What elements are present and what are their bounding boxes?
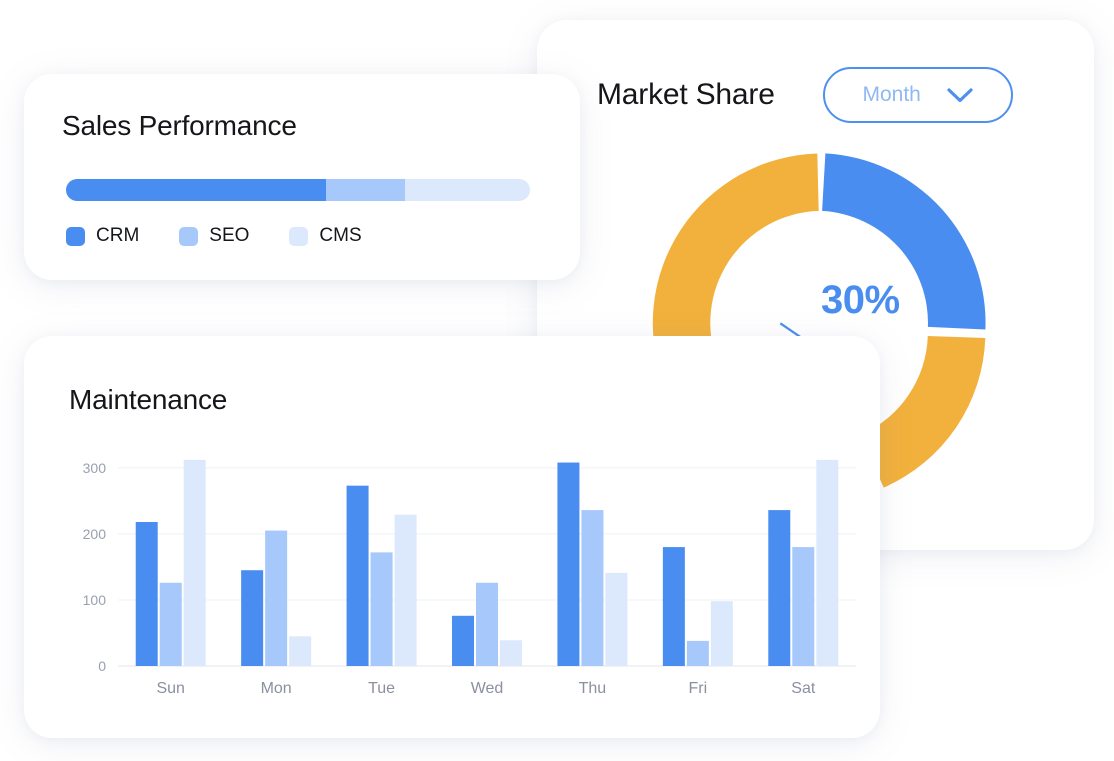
donut-center-value: 30% — [821, 278, 900, 323]
bar-wed-cms[interactable] — [500, 640, 522, 666]
legend-swatch-cms — [289, 227, 308, 246]
sales-legend: CRM SEO CMS — [66, 225, 362, 247]
bar-fri-crm[interactable] — [663, 547, 685, 666]
bar-mon-seo[interactable] — [265, 531, 287, 666]
sales-performance-title: Sales Performance — [62, 110, 297, 142]
bar-thu-seo[interactable] — [581, 510, 603, 666]
maintenance-bar-chart: 0100200300SunMonTueWedThuFriSat — [62, 436, 862, 706]
y-axis-tick-label: 300 — [83, 460, 107, 476]
bar-sat-cms[interactable] — [816, 460, 838, 666]
legend-item-cms: CMS — [289, 225, 361, 247]
legend-swatch-crm — [66, 227, 85, 246]
bar-mon-crm[interactable] — [241, 570, 263, 666]
y-axis-tick-label: 200 — [83, 526, 107, 542]
bar-sun-cms[interactable] — [184, 460, 206, 666]
progress-segment-cms — [405, 179, 530, 201]
dashboard-canvas: Market Share Month 30% Sal — [0, 0, 1114, 761]
bar-fri-cms[interactable] — [711, 601, 733, 666]
period-selector-label: Month — [863, 83, 921, 107]
bar-tue-crm[interactable] — [347, 486, 369, 666]
bar-chart-svg: 0100200300SunMonTueWedThuFriSat — [62, 436, 862, 706]
chevron-down-icon — [947, 88, 973, 103]
market-share-header: Market Share Month — [597, 66, 1050, 124]
y-axis-tick-label: 0 — [98, 658, 106, 674]
bar-sat-crm[interactable] — [768, 510, 790, 666]
bar-thu-crm[interactable] — [557, 463, 579, 666]
maintenance-card: Maintenance 0100200300SunMonTueWedThuFri… — [24, 336, 880, 738]
bar-sat-seo[interactable] — [792, 547, 814, 666]
sales-performance-card: Sales Performance CRM SEO CMS — [24, 74, 580, 280]
legend-label-cms: CMS — [319, 225, 361, 247]
x-axis-tick-label: Fri — [689, 680, 708, 697]
bar-wed-seo[interactable] — [476, 583, 498, 666]
bar-wed-crm[interactable] — [452, 616, 474, 666]
sales-progress-bar — [66, 179, 530, 201]
legend-label-crm: CRM — [96, 225, 139, 247]
progress-segment-crm — [66, 179, 326, 201]
bar-mon-cms[interactable] — [289, 636, 311, 666]
bar-sun-crm[interactable] — [136, 522, 158, 666]
x-axis-tick-label: Tue — [368, 680, 395, 697]
period-selector-button[interactable]: Month — [823, 67, 1013, 123]
x-axis-tick-label: Mon — [261, 680, 292, 697]
x-axis-tick-label: Thu — [579, 680, 607, 697]
x-axis-tick-label: Wed — [471, 680, 504, 697]
bar-sun-seo[interactable] — [160, 583, 182, 666]
market-share-title: Market Share — [597, 78, 775, 112]
legend-item-crm: CRM — [66, 225, 139, 247]
legend-item-seo: SEO — [179, 225, 249, 247]
legend-label-seo: SEO — [209, 225, 249, 247]
x-axis-tick-label: Sat — [791, 680, 816, 697]
bar-fri-seo[interactable] — [687, 641, 709, 666]
bar-thu-cms[interactable] — [605, 573, 627, 666]
legend-swatch-seo — [179, 227, 198, 246]
maintenance-title: Maintenance — [69, 384, 227, 416]
bar-tue-cms[interactable] — [395, 515, 417, 666]
x-axis-tick-label: Sun — [156, 680, 184, 697]
progress-segment-seo — [326, 179, 405, 201]
y-axis-tick-label: 100 — [83, 592, 107, 608]
bar-tue-seo[interactable] — [371, 552, 393, 666]
